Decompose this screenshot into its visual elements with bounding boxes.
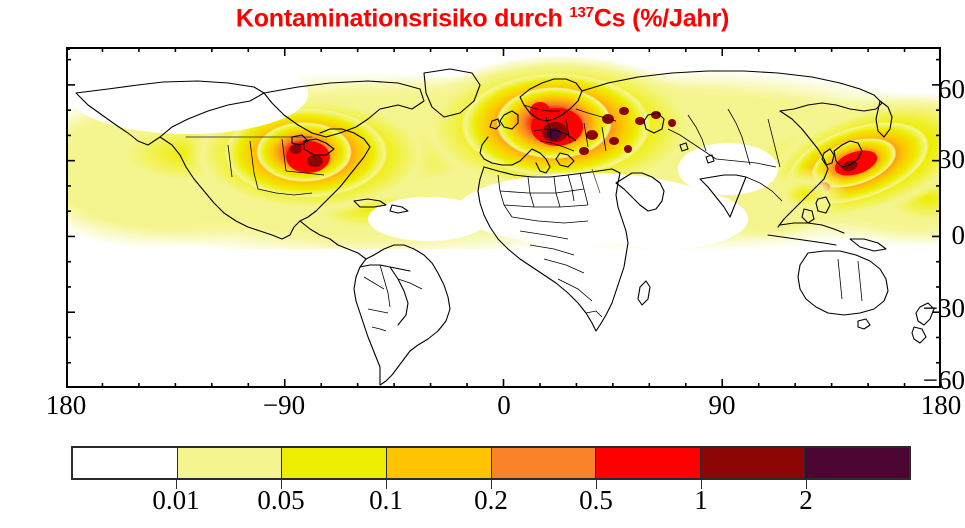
map-plot-area <box>66 47 941 388</box>
y-tick-label-60: 60 <box>907 76 965 103</box>
colorbar-band-4 <box>492 448 597 478</box>
colorbar-band-5 <box>596 448 701 478</box>
x-tick-label-180: 180 <box>891 392 965 419</box>
title-element: Cs <box>594 4 626 32</box>
colorbar-label-2: 2 <box>756 487 856 514</box>
title-prefix: Kontaminationsrisiko durch <box>236 4 570 32</box>
colorbar-label-0.05: 0.05 <box>231 487 331 514</box>
colorbar-label-0.1: 0.1 <box>336 487 436 514</box>
x-tick-label-m180: 180 <box>16 392 116 419</box>
colorbar-band-1 <box>178 448 283 478</box>
y-tick-label-m30: −30 <box>907 295 965 322</box>
colorbar-label-0.01: 0.01 <box>126 487 226 514</box>
title-isotope-mass: 137 <box>569 4 593 21</box>
colorbar-label-1: 1 <box>651 487 751 514</box>
colorbar-band-0 <box>73 448 178 478</box>
colorbar-label-0.2: 0.2 <box>441 487 541 514</box>
colorbar-band-7 <box>805 448 909 478</box>
colorbar-label-0.5: 0.5 <box>546 487 646 514</box>
y-tick-label-0: 0 <box>907 222 965 249</box>
colorbar-band-6 <box>701 448 806 478</box>
x-tick-label-0: 0 <box>454 392 554 419</box>
contamination-risk-heatmap <box>68 49 939 386</box>
x-tick-label-90: 90 <box>672 392 772 419</box>
colorbar <box>71 446 911 480</box>
title-unit: (%/Jahr) <box>625 4 729 32</box>
y-tick-label-30: 30 <box>907 146 965 173</box>
colorbar-band-2 <box>282 448 387 478</box>
colorbar-band-3 <box>387 448 492 478</box>
x-tick-label-m90: −90 <box>234 392 334 419</box>
page-title: Kontaminationsrisiko durch 137Cs (%/Jahr… <box>0 4 965 33</box>
